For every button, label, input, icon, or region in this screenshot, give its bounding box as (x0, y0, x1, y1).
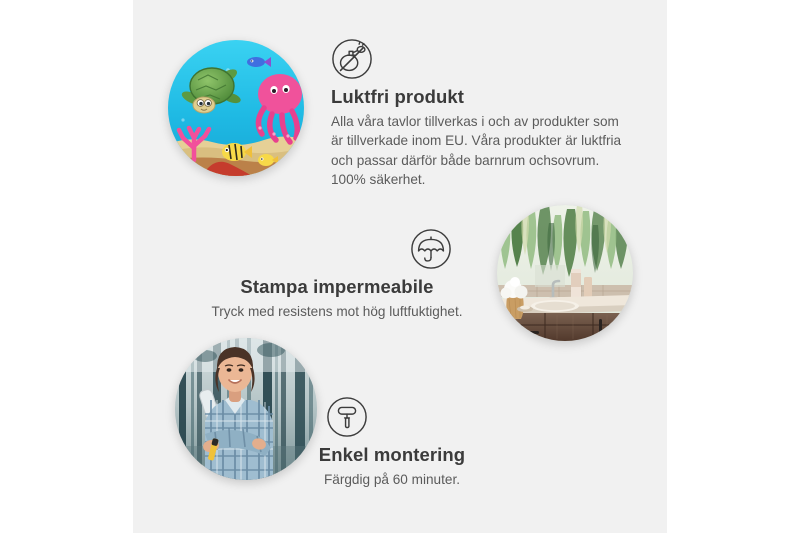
no-odor-spray-icon-svg (331, 38, 373, 80)
underwater-cartoon-photo (168, 40, 304, 176)
feature-description: Alla våra tavlor tillverkas i och av pro… (331, 112, 627, 189)
feature-heading: Enkel montering (268, 444, 516, 466)
feature-heading: Luktfri produkt (331, 86, 627, 108)
page-canvas: Luktfri produkt Alla våra tavlor tillver… (0, 0, 800, 533)
feature-block-assembly: Enkel montering Färgdig på 60 minuter. (268, 396, 516, 489)
umbrella-icon-svg (410, 228, 452, 270)
feature-block-odorless: Luktfri produkt Alla våra tavlor tillver… (331, 38, 627, 189)
underwater-scene-illustration (168, 40, 304, 176)
paint-roller-icon (326, 396, 368, 438)
feature-block-waterproof: Stampa impermeabile Tryck med resistens … (192, 228, 482, 321)
bathroom-vanity-photo (497, 205, 633, 341)
feature-description: Färgdig på 60 minuter. (268, 470, 516, 489)
no-odor-spray-icon (331, 38, 373, 80)
feature-description: Tryck med resistens mot hög luftfuktighe… (192, 302, 482, 321)
feature-heading: Stampa impermeabile (192, 276, 482, 298)
umbrella-icon (410, 228, 452, 270)
bathroom-scene-illustration (497, 205, 633, 341)
paint-roller-icon-svg (326, 396, 368, 438)
